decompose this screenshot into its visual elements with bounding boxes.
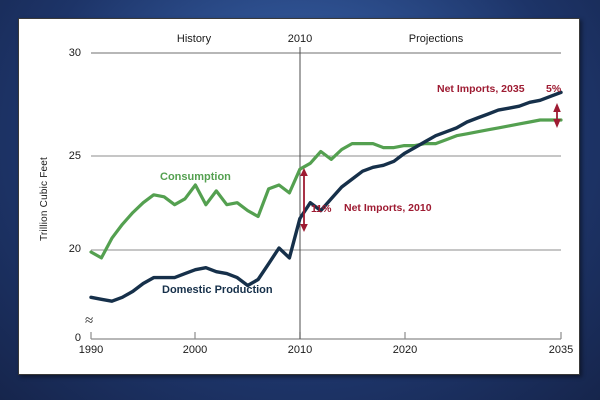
series-line-consumption xyxy=(91,120,561,258)
x-tick-label-2000: 2000 xyxy=(175,344,215,356)
x-tick-label-1990: 1990 xyxy=(71,344,111,356)
figure-frame: 30 25 20 0 ≈ 1990 2000 2010 2020 2035 Hi… xyxy=(0,0,600,400)
gap-arrow-2035 xyxy=(553,103,561,128)
x-tick-label-2010: 2010 xyxy=(280,344,320,356)
projections-label: Projections xyxy=(397,33,475,45)
y-tick-25: 25 xyxy=(59,150,81,162)
annotation-net-imports-2035: Net Imports, 2035 xyxy=(437,83,525,95)
gap-arrow-2010 xyxy=(300,168,308,232)
series-label-consumption: Consumption xyxy=(160,171,231,183)
divider-year-label: 2010 xyxy=(270,33,330,45)
chart-plot xyxy=(19,19,581,376)
axis-break-icon: ≈ xyxy=(85,313,93,330)
y-tick-30: 30 xyxy=(59,47,81,59)
annotation-net-imports-2010-pct: 11% xyxy=(311,203,331,215)
y-axis-title: Trillion Cubic Feet xyxy=(39,157,50,241)
annotation-net-imports-2035-pct: 5% xyxy=(546,83,561,95)
x-tick-label-2035: 2035 xyxy=(541,344,581,356)
y-tick-0: 0 xyxy=(59,332,81,344)
y-tick-20: 20 xyxy=(59,243,81,255)
x-tick-label-2020: 2020 xyxy=(385,344,425,356)
series-label-domestic-production: Domestic Production xyxy=(162,284,273,296)
annotation-net-imports-2010: Net Imports, 2010 xyxy=(344,202,432,214)
chart-panel: 30 25 20 0 ≈ 1990 2000 2010 2020 2035 Hi… xyxy=(18,18,580,375)
history-label: History xyxy=(159,33,229,45)
